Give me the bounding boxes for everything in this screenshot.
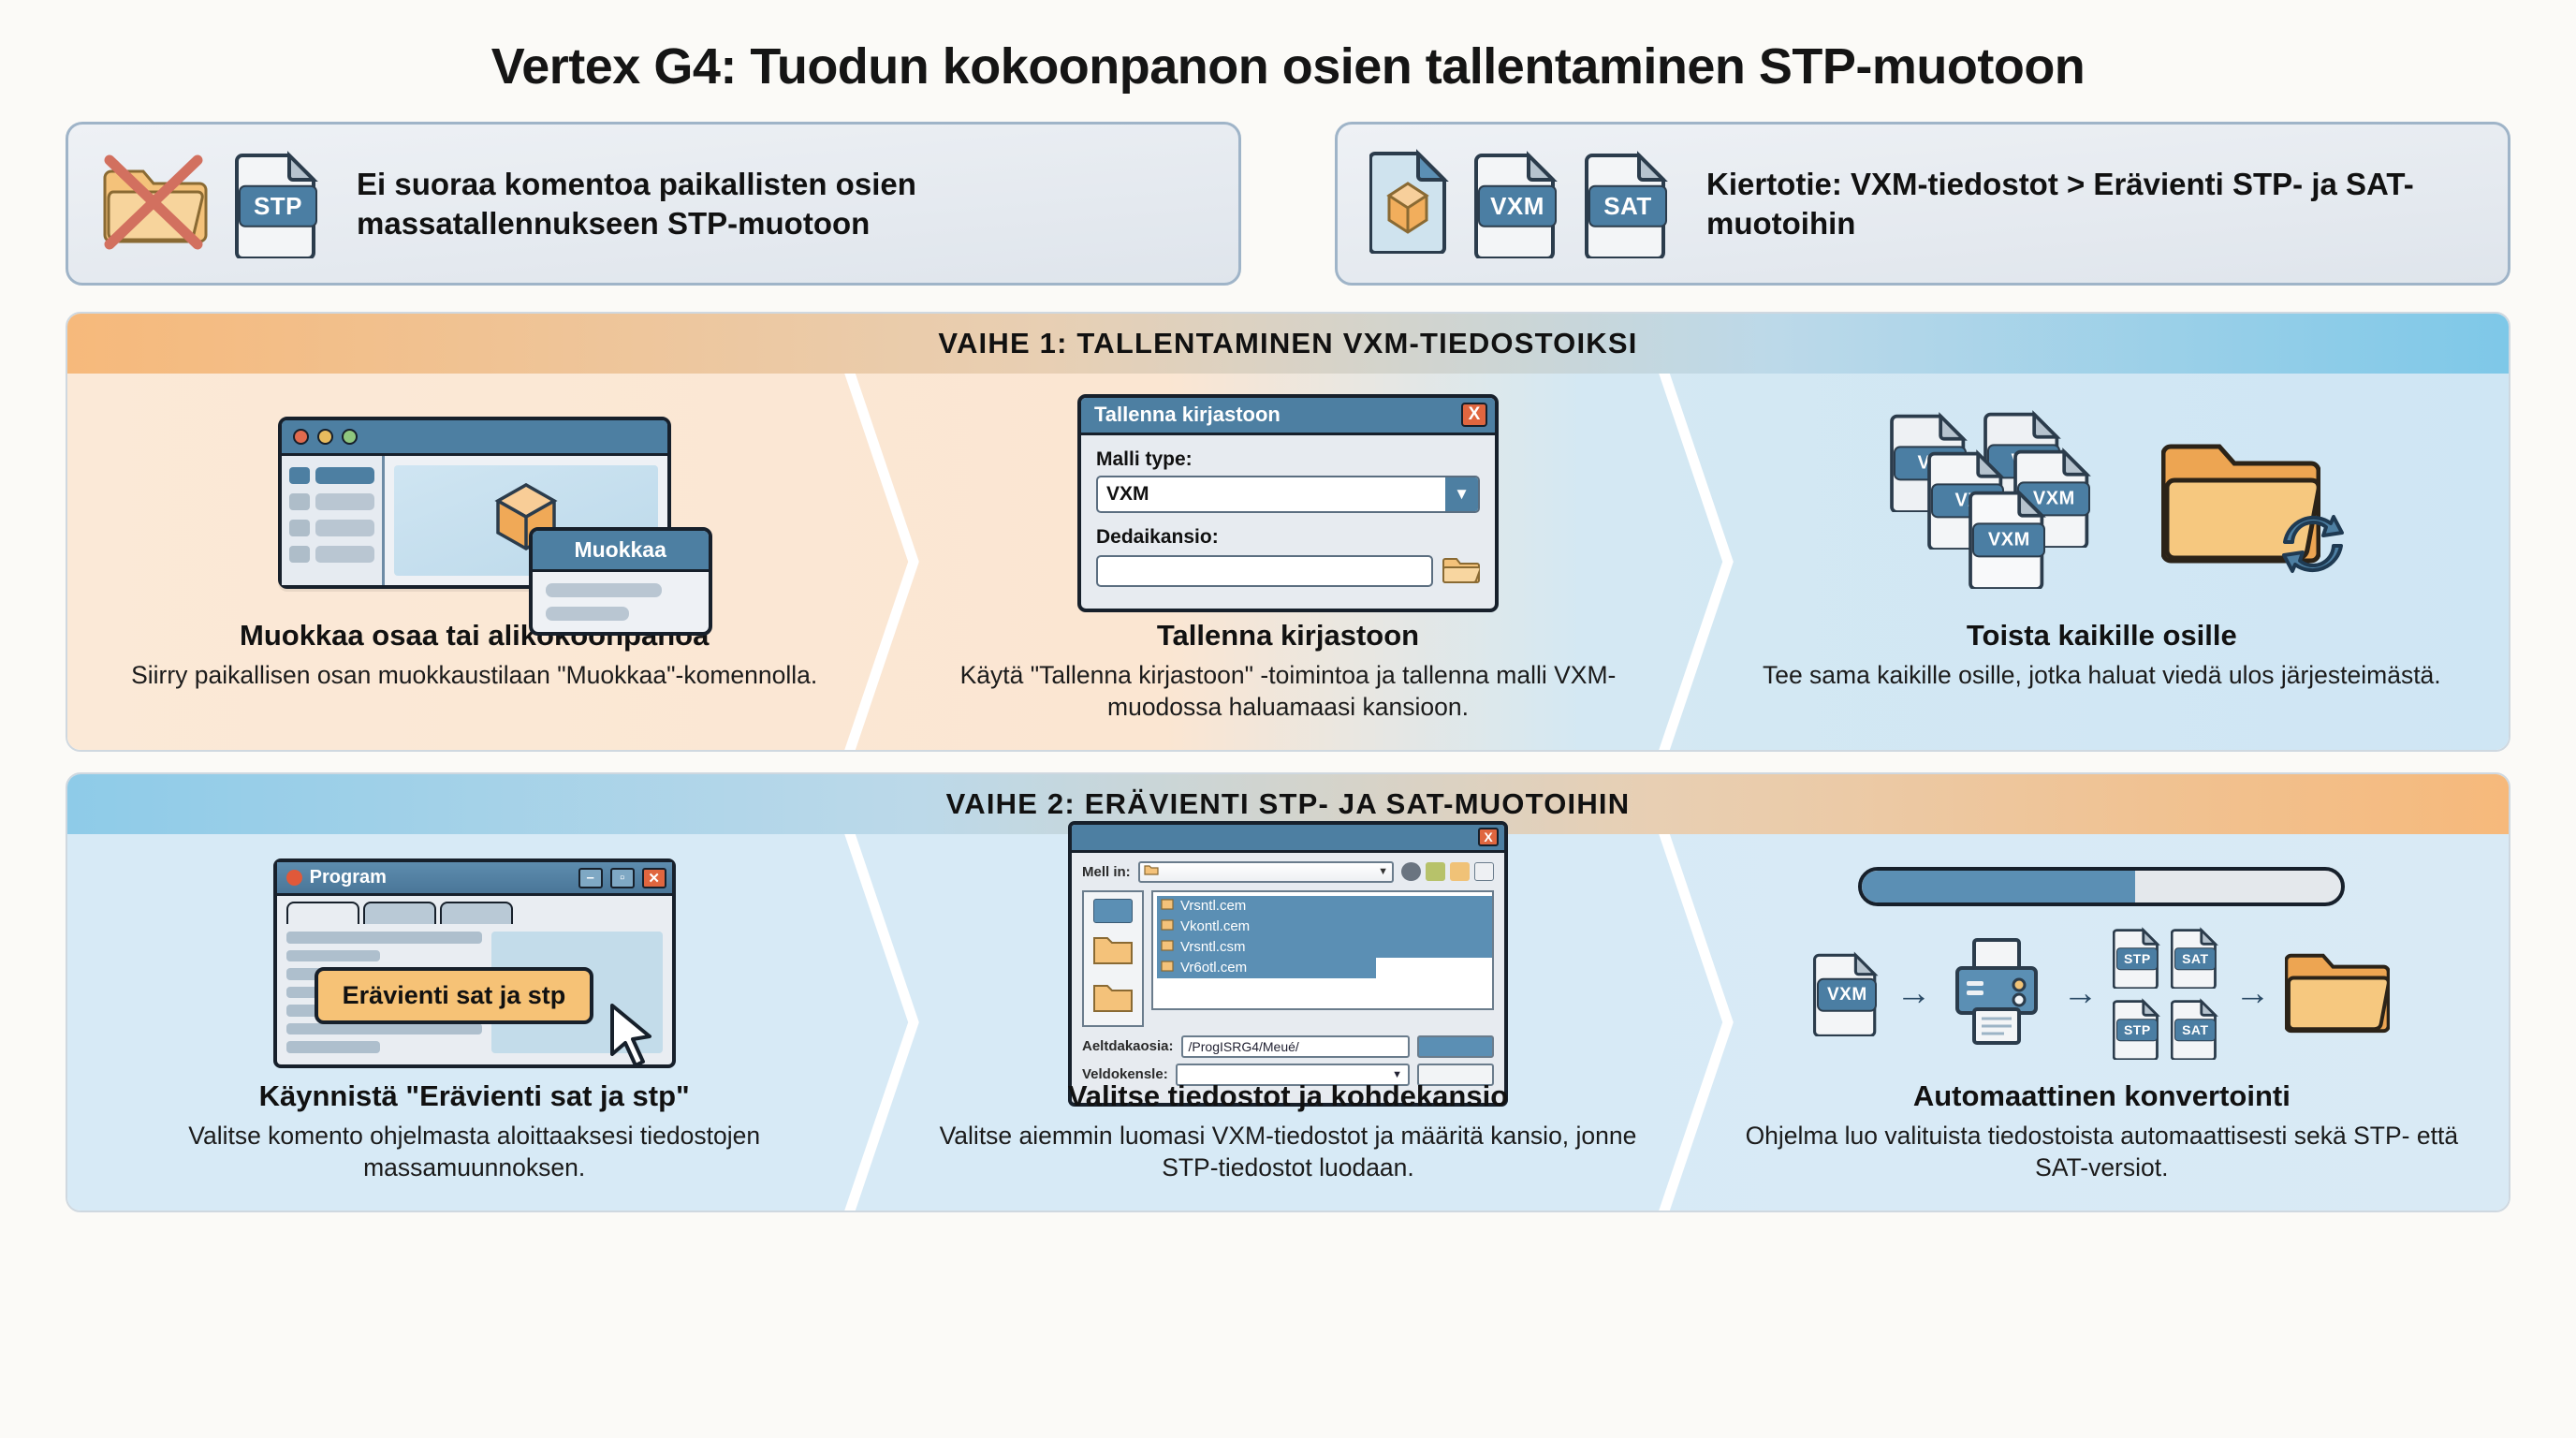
mouse-cursor-icon: [607, 1003, 661, 1073]
program-window-illustration: Program – ▫ ✕: [99, 853, 849, 1074]
stp-file-icon: STP: [235, 150, 321, 258]
folder-repeat-illustration: [2161, 432, 2320, 575]
close-icon[interactable]: X: [1478, 828, 1499, 846]
muokkaa-popup-title: Muokkaa: [533, 531, 709, 572]
vxm-file-label: VXM: [1478, 184, 1557, 227]
path-label: Aeltdakaosia:: [1082, 1038, 1174, 1054]
step-description: Ohjelma luo valituista tiedostoista auto…: [1727, 1120, 2477, 1184]
folder-crossed-out-icon: [100, 151, 211, 257]
file-folder-icon: [1161, 918, 1174, 934]
folder-icon: [1144, 864, 1159, 879]
stp-file-label: STP: [2116, 1019, 2158, 1041]
app-dot-icon: [286, 870, 302, 886]
model-cube-file-icon: [1369, 149, 1450, 258]
info-box-text: Kiertotie: VXM-tiedostot > Erävienti STP…: [1706, 165, 2476, 242]
list-line: [286, 1023, 483, 1035]
malli-type-label: Malli type:: [1096, 448, 1480, 471]
file-picker-dialog: X Mell in: ▼: [1068, 821, 1508, 1107]
new-folder-icon[interactable]: [1450, 862, 1470, 881]
dialog-body: Malli type: VXM ▼ Dedaikansio:: [1081, 435, 1495, 609]
sidebar-bar: [315, 493, 374, 510]
page-title: Vertex G4: Tuodun kokoonpanon osien tall…: [66, 0, 2510, 122]
maximize-icon[interactable]: ▫: [610, 868, 635, 888]
popup-placeholder-line: [546, 583, 663, 597]
sat-file-label: SAT: [2174, 947, 2216, 970]
file-name: Vrsntl.cem: [1180, 898, 1246, 914]
step-toista-kaikille-osille: VX VX VX VXM: [1695, 374, 2509, 750]
mini-app-window: Muokkaa: [278, 417, 671, 589]
vxm-file-icon: VXM: [1969, 488, 2049, 589]
maximize-dot-icon[interactable]: [342, 429, 358, 445]
sidebar-swatch: [289, 467, 310, 484]
list-line: [286, 932, 483, 944]
step-description: Valitse komento ohjelmasta aloittaaksesi…: [99, 1120, 849, 1184]
program-tabs: [277, 896, 672, 924]
dedaikansio-row: [1096, 553, 1480, 590]
step-automaattinen-konvertointi: VXM →: [1695, 834, 2509, 1211]
look-in-row: Mell in: ▼: [1082, 861, 1494, 883]
list-line: [286, 950, 381, 962]
infographic-page: Vertex G4: Tuodun kokoonpanon osien tall…: [0, 0, 2576, 1438]
tab-3[interactable]: [440, 902, 513, 924]
conversion-graphic: VXM →: [1727, 867, 2477, 1060]
sidebar-row[interactable]: [289, 467, 374, 484]
file-name: Vrsntl.csm: [1180, 939, 1245, 955]
phase-1-panel: VAIHE 1: TALLENTAMINEN VXM-TIEDOSTOIKSI: [66, 312, 2510, 752]
places-sidebar: [1082, 890, 1144, 1027]
conversion-progress-bar: [1858, 867, 2345, 906]
sat-file-label: SAT: [2174, 1019, 2216, 1041]
step-title: Valitse tiedostot ja kohdekansio: [1068, 1079, 1508, 1113]
malli-type-select[interactable]: VXM ▼: [1096, 476, 1480, 513]
sat-file-label: SAT: [1588, 184, 1667, 227]
file-name: Vr6otl.cem: [1180, 960, 1247, 976]
stp-file-label: STP: [2116, 947, 2158, 970]
arrow-right-icon: →: [1895, 976, 1931, 1011]
step-title: Tallenna kirjastoon: [1157, 619, 1419, 653]
file-list-item[interactable]: Vrsntl.csm: [1157, 937, 1492, 958]
phase-2-panel: VAIHE 2: ERÄVIENTI STP- JA SAT-MUOTOIHIN…: [66, 772, 2510, 1212]
malli-type-value: VXM: [1098, 477, 1445, 511]
arrow-right-icon: →: [2062, 976, 2098, 1011]
output-files-group: STP SAT: [2113, 927, 2219, 1060]
save-to-library-dialog-illustration: Tallenna kirjastoon X Malli type: VXM ▼ …: [913, 392, 1662, 613]
close-dot-icon[interactable]: [293, 429, 309, 445]
step-description: Valitse aiemmin luomasi VXM-tiedostot ja…: [913, 1120, 1662, 1184]
step-valitse-tiedostot: X Mell in: ▼: [881, 834, 1694, 1211]
destination-folder-icon: [2285, 946, 2390, 1042]
stp-file-icon: STP: [2113, 927, 2161, 989]
repeat-refresh-icon: [2274, 505, 2352, 588]
file-picker-body: Mell in: ▼: [1072, 853, 1504, 1103]
file-folder-icon: [1161, 939, 1174, 955]
look-in-combo[interactable]: ▼: [1138, 861, 1394, 883]
place-recent-icon[interactable]: [1093, 899, 1133, 923]
output-files-row: STP SAT: [2113, 998, 2219, 1060]
program-window: Program – ▫ ✕: [273, 858, 676, 1068]
minimize-dot-icon[interactable]: [317, 429, 333, 445]
conversion-flow-illustration: VXM →: [1727, 853, 2477, 1074]
dedaikansio-input[interactable]: [1096, 555, 1433, 587]
file-folder-icon: [1161, 960, 1174, 976]
conversion-flow-row: VXM →: [1813, 927, 2390, 1060]
place-documents-icon[interactable]: [1092, 934, 1134, 971]
place-desktop-icon[interactable]: [1092, 982, 1134, 1019]
app-window-with-cube-illustration: Muokkaa: [99, 392, 849, 613]
file-picker-titlebar: X: [1072, 825, 1504, 853]
look-in-label: Mell in:: [1082, 864, 1131, 880]
sidebar-swatch: [289, 493, 310, 510]
file-picker-illustration: X Mell in: ▼: [913, 853, 1662, 1074]
vxm-file-icon: VXM: [1474, 150, 1560, 258]
info-box-no-direct-command: STP Ei suoraa komentoa paikallisten osie…: [66, 122, 1241, 286]
back-icon[interactable]: [1401, 862, 1421, 881]
sidebar-bar: [315, 467, 374, 484]
dedaikansio-label: Dedaikansio:: [1096, 526, 1480, 549]
vxm-file-pile: VX VX VX VXM: [1882, 409, 2116, 596]
vxm-pile-folder-illustration: VX VX VX VXM: [1727, 392, 2477, 613]
chevron-down-icon[interactable]: ▼: [1445, 477, 1478, 511]
tab-2[interactable]: [363, 902, 436, 924]
minimize-icon[interactable]: –: [578, 868, 603, 888]
vxm-file-label: VXM: [1972, 522, 2045, 557]
file-list-item[interactable]: Vkontl.cem: [1157, 917, 1492, 937]
step-tallenna-kirjastoon: Tallenna kirjastoon X Malli type: VXM ▼ …: [881, 374, 1694, 750]
info-boxes-row: STP Ei suoraa komentoa paikallisten osie…: [66, 122, 2510, 286]
vxm-file-icon: VXM: [1813, 950, 1881, 1036]
step-title: Toista kaikille osille: [1967, 619, 2237, 653]
file-list-item[interactable]: Vr6otl.cem: [1157, 958, 1376, 978]
info-box-workaround: VXM SAT Kiertotie: VXM-tiedostot > Erävi…: [1335, 122, 2510, 286]
step-title: Käynnistä "Erävienti sat ja stp": [259, 1079, 690, 1113]
program-titlebar: Program – ▫ ✕: [277, 862, 672, 896]
close-icon[interactable]: X: [1461, 403, 1487, 427]
popup-placeholder-line: [546, 607, 630, 621]
arrow-right-icon: →: [2234, 976, 2270, 1011]
close-icon[interactable]: ✕: [642, 868, 666, 888]
vxm-file-label: VXM: [1817, 978, 1877, 1012]
phase-1-header: VAIHE 1: TALLENTAMINEN VXM-TIEDOSTOIKSI: [67, 314, 2509, 374]
sidebar-row[interactable]: [289, 546, 374, 563]
conversion-progress-fill: [1862, 871, 2135, 902]
file-picker-main: Vrsntl.cem Vkontl.cem Vrsntl.csm: [1082, 890, 1494, 1027]
window-titlebar: [282, 420, 667, 456]
step-kaynnista-eravienti: Program – ▫ ✕: [67, 834, 881, 1211]
sidebar-row[interactable]: [289, 493, 374, 510]
eravienti-command-button[interactable]: Erävienti sat ja stp: [315, 967, 594, 1024]
sat-file-icon: SAT: [2171, 998, 2219, 1060]
tab-1[interactable]: [286, 902, 359, 924]
step-title: Automaattinen konvertointi: [1913, 1079, 2291, 1113]
list-line: [286, 1041, 381, 1053]
program-title: Program: [310, 867, 571, 888]
dialog-titlebar: Tallenna kirjastoon X: [1081, 398, 1495, 435]
output-files-row: STP SAT: [2113, 927, 2219, 989]
path-row: Aeltdakaosia: /ProgISRG4/Meué/: [1082, 1035, 1494, 1058]
view-mode-icon[interactable]: [1474, 862, 1494, 881]
sat-file-icon: SAT: [2171, 927, 2219, 989]
phase-2-steps: Program – ▫ ✕: [67, 834, 2509, 1211]
file-list[interactable]: Vrsntl.cem Vkontl.cem Vrsntl.csm: [1151, 890, 1494, 1010]
file-folder-icon: [1161, 898, 1174, 914]
sat-file-icon: SAT: [1585, 150, 1671, 258]
sidebar-row[interactable]: [289, 520, 374, 536]
step-description: Käytä "Tallenna kirjastoon" -toimintoa j…: [913, 659, 1662, 724]
sidebar-swatch: [289, 546, 310, 563]
info-box-text: Ei suoraa komentoa paikallisten osien ma…: [357, 165, 1207, 242]
step-muokkaa-osaa: Muokkaa Muokkaa osaa tai alikokoonpanoa …: [67, 374, 881, 750]
sidebar-swatch: [289, 520, 310, 536]
chevron-down-icon[interactable]: ▼: [1392, 1069, 1402, 1080]
file-picker-footer: Aeltdakaosia: /ProgISRG4/Meué/ Veldokens…: [1082, 1035, 1494, 1086]
save-library-dialog: Tallenna kirjastoon X Malli type: VXM ▼ …: [1077, 394, 1499, 612]
stp-file-icon: STP: [2113, 998, 2161, 1060]
sidebar-bar: [315, 520, 374, 536]
open-button[interactable]: [1417, 1035, 1494, 1058]
phase-1-steps: Muokkaa Muokkaa osaa tai alikokoonpanoa …: [67, 374, 2509, 750]
folder-browse-icon[interactable]: [1442, 553, 1480, 590]
muokkaa-popup-body: [533, 572, 709, 632]
file-name: Vkontl.cem: [1180, 918, 1250, 934]
path-input[interactable]: /ProgISRG4/Meué/: [1181, 1035, 1410, 1058]
picker-toolbar: [1401, 862, 1494, 881]
step-description: Siirry paikallisen osan muokkaustilaan "…: [131, 659, 817, 691]
window-sidebar: [282, 456, 385, 585]
file-list-item[interactable]: Vrsntl.cem: [1157, 896, 1492, 917]
converter-machine-icon: [1946, 936, 2047, 1051]
muokkaa-popup[interactable]: Muokkaa: [529, 527, 712, 636]
step-description: Tee sama kaikille osille, jotka haluat v…: [1763, 659, 2441, 691]
stp-file-label: STP: [239, 184, 317, 227]
sidebar-bar: [315, 546, 374, 563]
up-folder-icon[interactable]: [1426, 862, 1445, 881]
dialog-title: Tallenna kirjastoon: [1094, 403, 1281, 427]
chevron-down-icon[interactable]: ▼: [1378, 866, 1388, 877]
